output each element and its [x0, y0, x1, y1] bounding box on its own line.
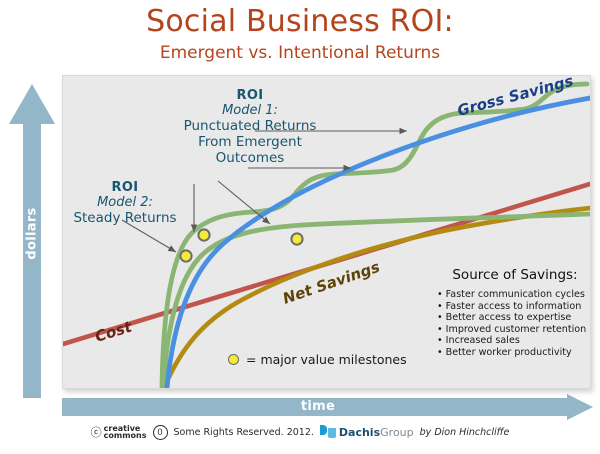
footer-credits: ⓒ creative commons 0 Some Rights Reserve…	[0, 424, 600, 440]
dachis-mark-icon	[320, 425, 336, 439]
dachis-group-logo: DachisGroup	[320, 425, 414, 439]
list-item: Faster access to information	[437, 301, 593, 313]
milestone-dot	[180, 250, 191, 261]
list-item: Increased sales	[437, 335, 593, 347]
annotation-model1-line1: Punctuated Returns	[180, 118, 320, 134]
y-axis-arrow: dollars	[8, 84, 56, 398]
author-byline: by Dion Hinchcliffe	[420, 427, 510, 438]
cc-zero-icon: 0	[153, 425, 168, 440]
infographic-root: Social Business ROI: Emergent vs. Intent…	[0, 0, 600, 454]
annotation-model1-line2: From Emergent	[180, 134, 320, 150]
y-axis-label: dollars	[25, 194, 40, 274]
creative-commons-icon: ⓒ	[91, 424, 101, 440]
curve-label-cost: Cost	[93, 317, 135, 345]
page-subtitle: Emergent vs. Intentional Returns	[0, 43, 600, 63]
source-of-savings-block: Source of Savings: Faster communication …	[437, 267, 593, 359]
annotation-model2-roi: ROI	[66, 180, 184, 195]
x-axis-arrow: time	[62, 394, 594, 420]
x-axis-label: time	[62, 399, 574, 414]
milestone-dot-icon	[228, 354, 239, 365]
list-item: Better worker productivity	[437, 347, 593, 359]
creative-commons-logo: ⓒ creative commons	[91, 424, 147, 440]
curve-label-net-savings: Net Savings	[280, 258, 382, 308]
milestone-dot	[198, 229, 209, 240]
milestone-legend: = major value milestones	[228, 352, 407, 367]
annotation-model2-line1: Steady Returns	[66, 210, 184, 226]
annotation-model1-model: Model 1:	[180, 103, 320, 118]
milestone-dot	[291, 233, 302, 244]
list-item: Improved customer retention	[437, 324, 593, 336]
milestone-legend-label: = major value milestones	[246, 352, 407, 367]
annotation-roi-model-2: ROI Model 2: Steady Returns	[66, 180, 184, 226]
rights-text: Some Rights Reserved. 2012.	[174, 427, 314, 438]
annotation-model2-model: Model 2:	[66, 195, 184, 210]
list-item: Better access to expertise	[437, 312, 593, 324]
page-title: Social Business ROI:	[0, 4, 600, 39]
dachis-brand-name: DachisGroup	[339, 426, 414, 439]
list-item: Faster communication cycles	[437, 289, 593, 301]
cc-word-commons: commons	[104, 432, 147, 440]
annotation-model1-line3: Outcomes	[180, 150, 320, 166]
annotation-model1-roi: ROI	[180, 88, 320, 103]
source-of-savings-list: Faster communication cycles Faster acces…	[437, 289, 593, 359]
source-of-savings-title: Source of Savings:	[437, 267, 593, 283]
annotation-roi-model-1: ROI Model 1: Punctuated Returns From Eme…	[180, 88, 320, 166]
